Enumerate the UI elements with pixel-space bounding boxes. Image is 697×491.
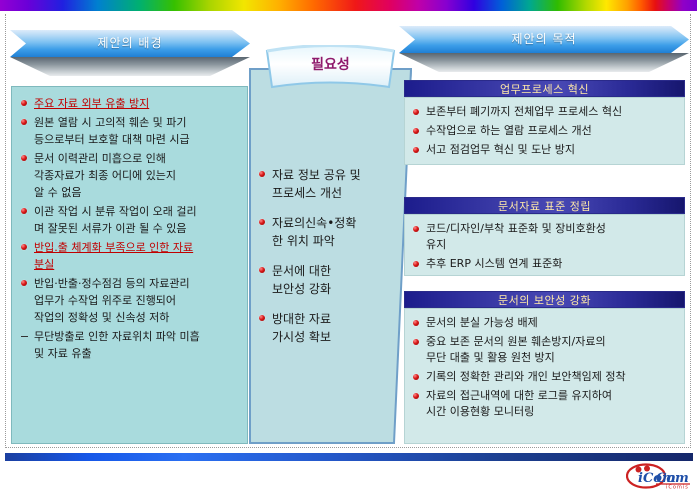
necessity-list: 자료 정보 공유 및프로세스 개선자료의신속•정확한 위치 파악문서에 대한보안… [258,166,398,358]
bullet-dot-icon [21,100,27,106]
icom-logo-mark: iCom Com iComis [626,463,692,489]
bullet-dot-icon [413,147,419,153]
list-item-text: 문서에 대한 [272,264,331,278]
list-item-continuation: 시간 이용현황 모니터링 [426,404,678,420]
bullet-dot-icon [259,267,265,273]
list-item-text: 수작업으로 하는 열람 프로세스 개선 [426,124,592,137]
banner-right-label: 제안의 목적 [399,26,689,53]
list-item-text: 서고 점검업무 혁신 및 도난 방지 [426,143,575,156]
bottom-accent-bar [5,453,693,461]
bullet-dot-icon [413,339,419,345]
ribbon-label: 필요성 [263,45,398,85]
list-item-continuation: 며 잘못된 서류가 이관 될 수 있음 [34,220,240,237]
bullet-dot-icon [21,280,27,286]
banner-proposal-purpose: 제안의 목적 [399,26,689,72]
section-body-document-security: 문서의 분실 가능성 배제중요 보존 문서의 원본 훼손방지/자료의무단 대출 … [404,308,685,444]
list-item-text: 문서 이력관리 미흡으로 인해 [34,152,166,165]
list-item: 자료의 접근내역에 대한 로그를 유지하여시간 이용현황 모니터링 [412,388,678,420]
list-item-continuation: 한 위치 파악 [272,232,398,250]
icom-logo-subtext: iComis [666,485,689,490]
list-item: 문서의 분실 가능성 배제 [412,315,678,331]
bullet-dot-icon [413,226,419,232]
slide-canvas: 제안의 배경 제안의 목적 주요 자료 외부 유출 방지원본 열람 시 고의적 … [0,0,697,491]
rainbow-strip [0,0,697,11]
section-body-process-innovation: 보존부터 폐기까지 전체업무 프로세스 혁신수작업으로 하는 열람 프로세스 개… [404,97,685,165]
banner-shadow-left [10,57,250,76]
list-item: 반입·반출·정수점검 등의 자료관리업무가 수작업 위주로 진행되어작업의 정확… [20,275,240,326]
bullet-dot-icon [259,171,265,177]
list-item-text: 방대한 자료 [272,312,331,326]
list-item-text: 반입.출 체계화 부족으로 인한 자료 [34,241,193,254]
necessity-ribbon: 필요성 [263,45,398,93]
list-item-continuation: 가시성 확보 [272,328,398,346]
list-item: 추후 ERP 시스템 연계 표준화 [412,256,678,272]
list-item-continuation: 등으로부터 보호할 대책 마련 시급 [34,131,240,148]
list-item-continuation: 작업의 정확성 및 신속성 저하 [34,309,240,326]
bullet-dot-icon [413,261,419,267]
list-item-continuation: 유지 [426,237,678,253]
bullet-dot-icon [413,128,419,134]
list-item-text: 자료 정보 공유 및 [272,168,361,182]
section-title-process-innovation: 업무프로세스 혁신 [404,80,685,97]
list-item-continuation: 무단 대출 및 활용 원천 방지 [426,350,678,366]
list-item: 보존부터 폐기까지 전체업무 프로세스 혁신 [412,104,678,120]
bullet-dot-icon [413,393,419,399]
list-item-text: 무단방출로 인한 자료위치 파악 미흡 [34,330,200,343]
list-item-text: 기록의 정확한 관리와 개인 보안책임제 정착 [426,370,626,383]
list-item-text: 중요 보존 문서의 원본 훼손방지/자료의 [426,335,606,348]
list-item: 반입.출 체계화 부족으로 인한 자료분실 [20,239,240,273]
bullet-dot-icon [21,119,27,125]
bullet-dot-icon [21,208,27,214]
list-item: 문서 이력관리 미흡으로 인해각종자료가 최종 어디에 있는지알 수 없음 [20,150,240,201]
list-item-continuation: 보안성 강화 [272,280,398,298]
section-body-data-standardization: 코드/디자인/부착 표준화 및 장비호환성유지추후 ERP 시스템 연계 표준화 [404,214,685,276]
list-item: 이관 작업 시 분류 작업이 오래 걸리며 잘못된 서류가 이관 될 수 있음 [20,203,240,237]
list-item-text: 자료의 접근내역에 대한 로그를 유지하여 [426,389,612,402]
list-item: 자료의신속•정확한 위치 파악 [258,214,398,250]
background-issue-list: 주요 자료 외부 유출 방지원본 열람 시 고의적 훼손 및 파기등으로부터 보… [20,95,240,362]
bullet-dot-icon [21,155,27,161]
list-item-text: 주요 자료 외부 유출 방지 [34,97,149,110]
list-item: 방대한 자료가시성 확보 [258,310,398,346]
list-item-text: 자료의신속•정확 [272,216,356,230]
list-item-continuation: 분실 [34,256,240,273]
dash-marker-icon [21,336,28,337]
list-item: 원본 열람 시 고의적 훼손 및 파기등으로부터 보호할 대책 마련 시급 [20,114,240,148]
list-item-continuation: 프로세스 개선 [272,184,398,202]
bullet-dot-icon [413,320,419,326]
list-item: 문서에 대한보안성 강화 [258,262,398,298]
list-item-text: 반입·반출·정수점검 등의 자료관리 [34,277,190,290]
list-item-text: 보존부터 폐기까지 전체업무 프로세스 혁신 [426,105,622,118]
list-item: 주요 자료 외부 유출 방지 [20,95,240,112]
section-list-data-standardization: 코드/디자인/부착 표준화 및 장비호환성유지추후 ERP 시스템 연계 표준화 [412,221,678,272]
list-item-text: 추후 ERP 시스템 연계 표준화 [426,257,562,270]
section-list-process-innovation: 보존부터 폐기까지 전체업무 프로세스 혁신수작업으로 하는 열람 프로세스 개… [412,104,678,158]
bullet-dot-icon [413,109,419,115]
banner-proposal-background: 제안의 배경 [10,30,250,76]
icom-logo: iCom Com iComis [626,463,692,489]
list-item: 코드/디자인/부착 표준화 및 장비호환성유지 [412,221,678,253]
bullet-dot-icon [259,219,265,225]
list-item: 중요 보존 문서의 원본 훼손방지/자료의무단 대출 및 활용 원천 방지 [412,334,678,366]
list-item: 무단방출로 인한 자료위치 파악 미흡및 자료 유출 [20,328,240,362]
section-title-document-security: 문서의 보안성 강화 [404,291,685,308]
banner-shadow-right [399,53,689,72]
section-list-document-security: 문서의 분실 가능성 배제중요 보존 문서의 원본 훼손방지/자료의무단 대출 … [412,315,678,420]
list-item: 기록의 정확한 관리와 개인 보안책임제 정착 [412,369,678,385]
list-item-text: 원본 열람 시 고의적 훼손 및 파기 [34,116,187,129]
list-item: 수작업으로 하는 열람 프로세스 개선 [412,123,678,139]
list-item-text: 이관 작업 시 분류 작업이 오래 걸리 [34,205,197,218]
list-item: 서고 점검업무 혁신 및 도난 방지 [412,142,678,158]
list-item-continuation: 알 수 없음 [34,184,240,201]
section-title-data-standardization: 문서자료 표준 정립 [404,197,685,214]
list-item: 자료 정보 공유 및프로세스 개선 [258,166,398,202]
list-item-text: 코드/디자인/부착 표준화 및 장비호환성 [426,222,606,235]
list-item-continuation: 각종자료가 최종 어디에 있는지 [34,167,240,184]
list-item-continuation: 업무가 수작업 위주로 진행되어 [34,292,240,309]
bullet-dot-icon [21,244,27,250]
list-item-text: 문서의 분실 가능성 배제 [426,316,538,329]
list-item-continuation: 및 자료 유출 [34,345,240,362]
banner-left-label: 제안의 배경 [10,30,250,57]
background-issues-panel: 주요 자료 외부 유출 방지원본 열람 시 고의적 훼손 및 파기등으로부터 보… [11,86,248,444]
bullet-dot-icon [413,374,419,380]
bullet-dot-icon [259,315,265,321]
